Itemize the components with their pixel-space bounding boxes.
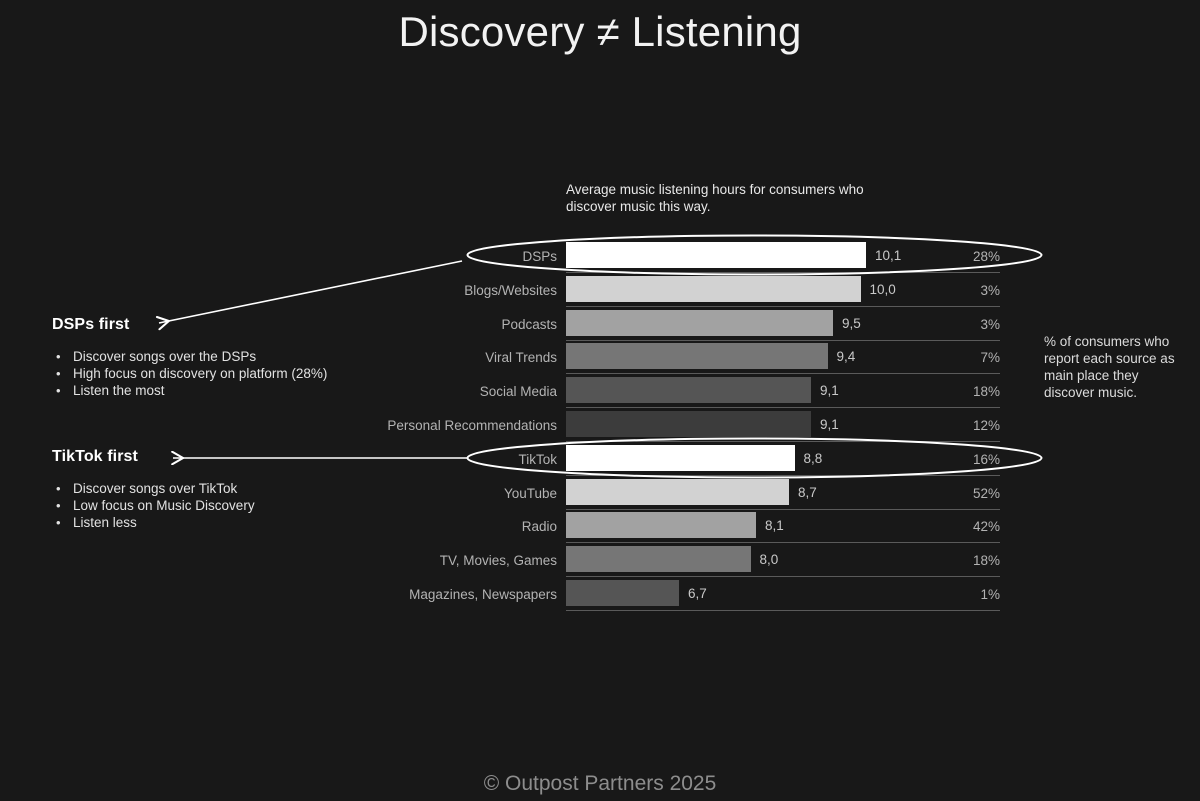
bar-value-label: 9,4 bbox=[837, 349, 856, 364]
bar bbox=[566, 546, 751, 572]
row-label: Magazines, Newspapers bbox=[240, 587, 557, 602]
row-label: TV, Movies, Games bbox=[240, 553, 557, 568]
list-item: Discover songs over TikTok bbox=[52, 480, 382, 497]
bar bbox=[566, 580, 679, 606]
bar-value-label: 8,0 bbox=[760, 552, 779, 567]
bar bbox=[566, 343, 828, 369]
bar-percent-label: 18% bbox=[860, 553, 1000, 568]
chart-row: TV, Movies, Games8,018% bbox=[0, 544, 1200, 578]
row-label: Personal Recommendations bbox=[240, 418, 557, 433]
callout-tiktok-first: TikTok first Discover songs over TikTok … bbox=[52, 448, 382, 531]
bar bbox=[566, 512, 756, 538]
list-item: High focus on discovery on platform (28%… bbox=[52, 365, 382, 382]
bar bbox=[566, 479, 789, 505]
bar-percent-label: 7% bbox=[860, 350, 1000, 365]
bar bbox=[566, 411, 811, 437]
bar-percent-label: 1% bbox=[860, 587, 1000, 602]
list-item: Low focus on Music Discovery bbox=[52, 497, 382, 514]
bar-percent-label: 3% bbox=[860, 283, 1000, 298]
bar-percent-label: 12% bbox=[860, 418, 1000, 433]
bar bbox=[566, 276, 861, 302]
bar-percent-label: 3% bbox=[860, 317, 1000, 332]
bar bbox=[566, 310, 833, 336]
bar bbox=[566, 445, 795, 471]
callout-title: DSPs first bbox=[52, 316, 382, 334]
chart-row: Personal Recommendations9,112% bbox=[0, 409, 1200, 443]
list-item: Listen the most bbox=[52, 382, 382, 399]
bar-percent-label: 52% bbox=[860, 486, 1000, 501]
bar-value-label: 9,1 bbox=[820, 417, 839, 432]
bar-chart: DSPs10,128%Blogs/Websites10,03%Podcasts9… bbox=[0, 0, 1200, 801]
bar-percent-label: 18% bbox=[860, 384, 1000, 399]
callout-title: TikTok first bbox=[52, 448, 382, 466]
footer-copyright: © Outpost Partners 2025 bbox=[0, 772, 1200, 796]
bar-percent-label: 28% bbox=[860, 249, 1000, 264]
bar bbox=[566, 242, 866, 268]
bar-value-label: 8,1 bbox=[765, 518, 784, 533]
bar-value-label: 9,1 bbox=[820, 383, 839, 398]
bar-percent-label: 42% bbox=[860, 519, 1000, 534]
bar bbox=[566, 377, 811, 403]
callout-bullet-list: Discover songs over the DSPs High focus … bbox=[52, 348, 382, 399]
bar-value-label: 8,7 bbox=[798, 485, 817, 500]
callout-bullet-list: Discover songs over TikTok Low focus on … bbox=[52, 480, 382, 531]
bar-value-label: 9,5 bbox=[842, 316, 861, 331]
callout-dsps-first: DSPs first Discover songs over the DSPs … bbox=[52, 316, 382, 399]
bar-value-label: 8,8 bbox=[804, 451, 823, 466]
chart-row: Magazines, Newspapers6,71% bbox=[0, 578, 1200, 612]
list-item: Discover songs over the DSPs bbox=[52, 348, 382, 365]
chart-row: Blogs/Websites10,03% bbox=[0, 274, 1200, 308]
row-label: DSPs bbox=[240, 249, 557, 264]
chart-row: DSPs10,128% bbox=[0, 240, 1200, 274]
slide: Discovery ≠ Listening Average music list… bbox=[0, 0, 1200, 801]
row-label: Blogs/Websites bbox=[240, 283, 557, 298]
bar-percent-label: 16% bbox=[860, 452, 1000, 467]
bar-value-label: 6,7 bbox=[688, 586, 707, 601]
list-item: Listen less bbox=[52, 514, 382, 531]
